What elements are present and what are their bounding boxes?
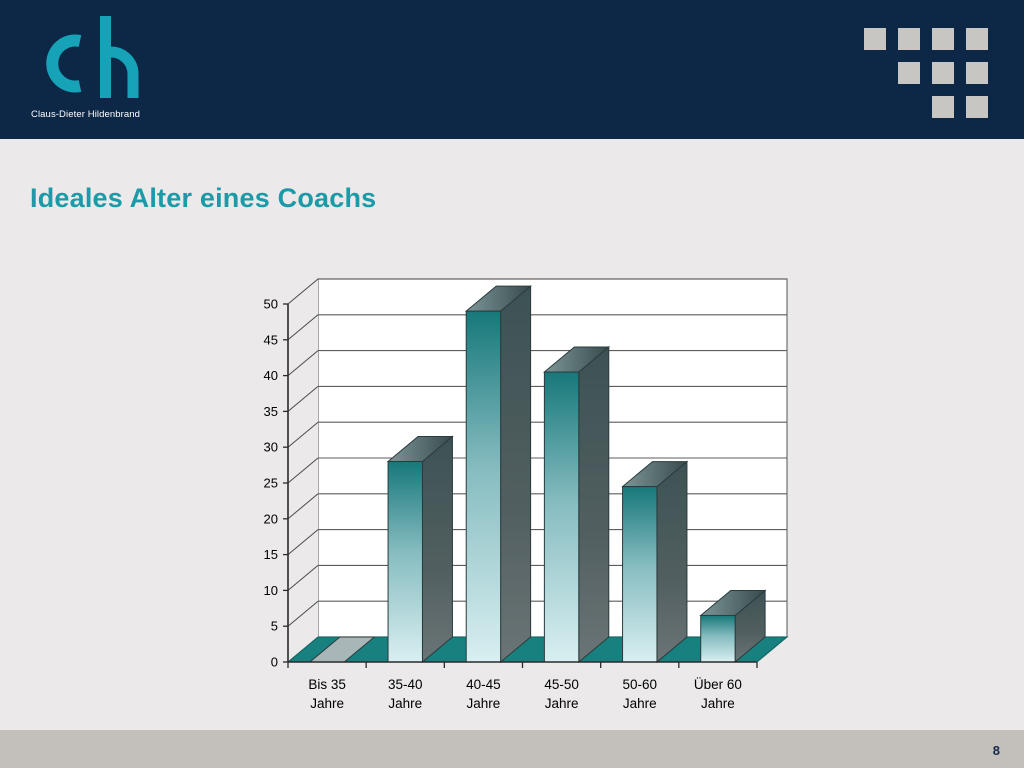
y-axis-tick-label: 20 — [264, 511, 278, 526]
y-axis-tick-label: 0 — [271, 655, 278, 670]
x-axis-category-label: 50-60 — [622, 677, 657, 692]
bar-front-face[interactable] — [466, 311, 500, 662]
decor-square — [966, 28, 988, 50]
x-axis-category-label: 40-45 — [466, 677, 501, 692]
bar-group-5 — [623, 462, 687, 662]
bar-side-face — [501, 286, 531, 662]
decor-square — [932, 28, 954, 50]
x-axis-category-label: Jahre — [467, 696, 501, 711]
bar-group-2 — [388, 437, 452, 662]
bar-front-face[interactable] — [544, 372, 578, 662]
x-axis-category-label: Jahre — [310, 696, 344, 711]
page-title: Ideales Alter eines Coachs — [30, 183, 376, 214]
bar-front-face[interactable] — [388, 462, 422, 662]
x-axis-category-label: Jahre — [701, 696, 735, 711]
y-axis-tick-label: 15 — [264, 547, 278, 562]
y-axis-tick-label: 50 — [264, 297, 278, 312]
y-axis-tick-label: 45 — [264, 332, 278, 347]
chart-canvas: 05101520253035404550Bis 35Jahre35-40Jahr… — [255, 250, 800, 725]
bar-group-4 — [544, 347, 608, 662]
bar-side-face — [579, 347, 609, 662]
brand-logo: Claus-Dieter Hildenbrand — [28, 8, 168, 128]
decor-square — [966, 62, 988, 84]
x-axis-category-label: Über 60 — [694, 677, 742, 692]
y-axis-tick-label: 5 — [271, 619, 278, 634]
y-axis-tick-label: 30 — [264, 440, 278, 455]
decor-square — [864, 28, 886, 50]
bar-group-3 — [466, 286, 530, 662]
slide-footer: 8 — [0, 730, 1024, 768]
x-axis-category-label: Jahre — [388, 696, 422, 711]
decor-square — [932, 96, 954, 118]
x-axis-category-label: Bis 35 — [308, 677, 346, 692]
bar-side-face — [657, 462, 687, 662]
y-axis-tick-label: 25 — [264, 476, 278, 491]
x-axis-category-label: Jahre — [623, 696, 657, 711]
x-axis-category-label: Jahre — [545, 696, 579, 711]
bar-side-face — [422, 437, 452, 662]
x-axis-category-label: 35-40 — [388, 677, 423, 692]
logo-caption: Claus-Dieter Hildenbrand — [31, 109, 140, 120]
decor-square — [966, 96, 988, 118]
decor-square — [932, 62, 954, 84]
bar-chart: 05101520253035404550Bis 35Jahre35-40Jahr… — [255, 250, 800, 725]
slide-header: Claus-Dieter Hildenbrand — [0, 0, 1024, 139]
x-axis-category-label: 45-50 — [544, 677, 579, 692]
bar-front-face[interactable] — [623, 487, 657, 662]
page-number: 8 — [993, 743, 1000, 758]
y-axis-tick-label: 35 — [264, 404, 278, 419]
logo-ch-mark — [28, 8, 168, 108]
decor-square — [898, 28, 920, 50]
y-axis-tick-label: 40 — [264, 368, 278, 383]
decor-square — [898, 62, 920, 84]
decorative-square-grid — [864, 28, 988, 118]
y-axis-tick-label: 10 — [264, 583, 278, 598]
bar-front-face[interactable] — [701, 615, 735, 662]
